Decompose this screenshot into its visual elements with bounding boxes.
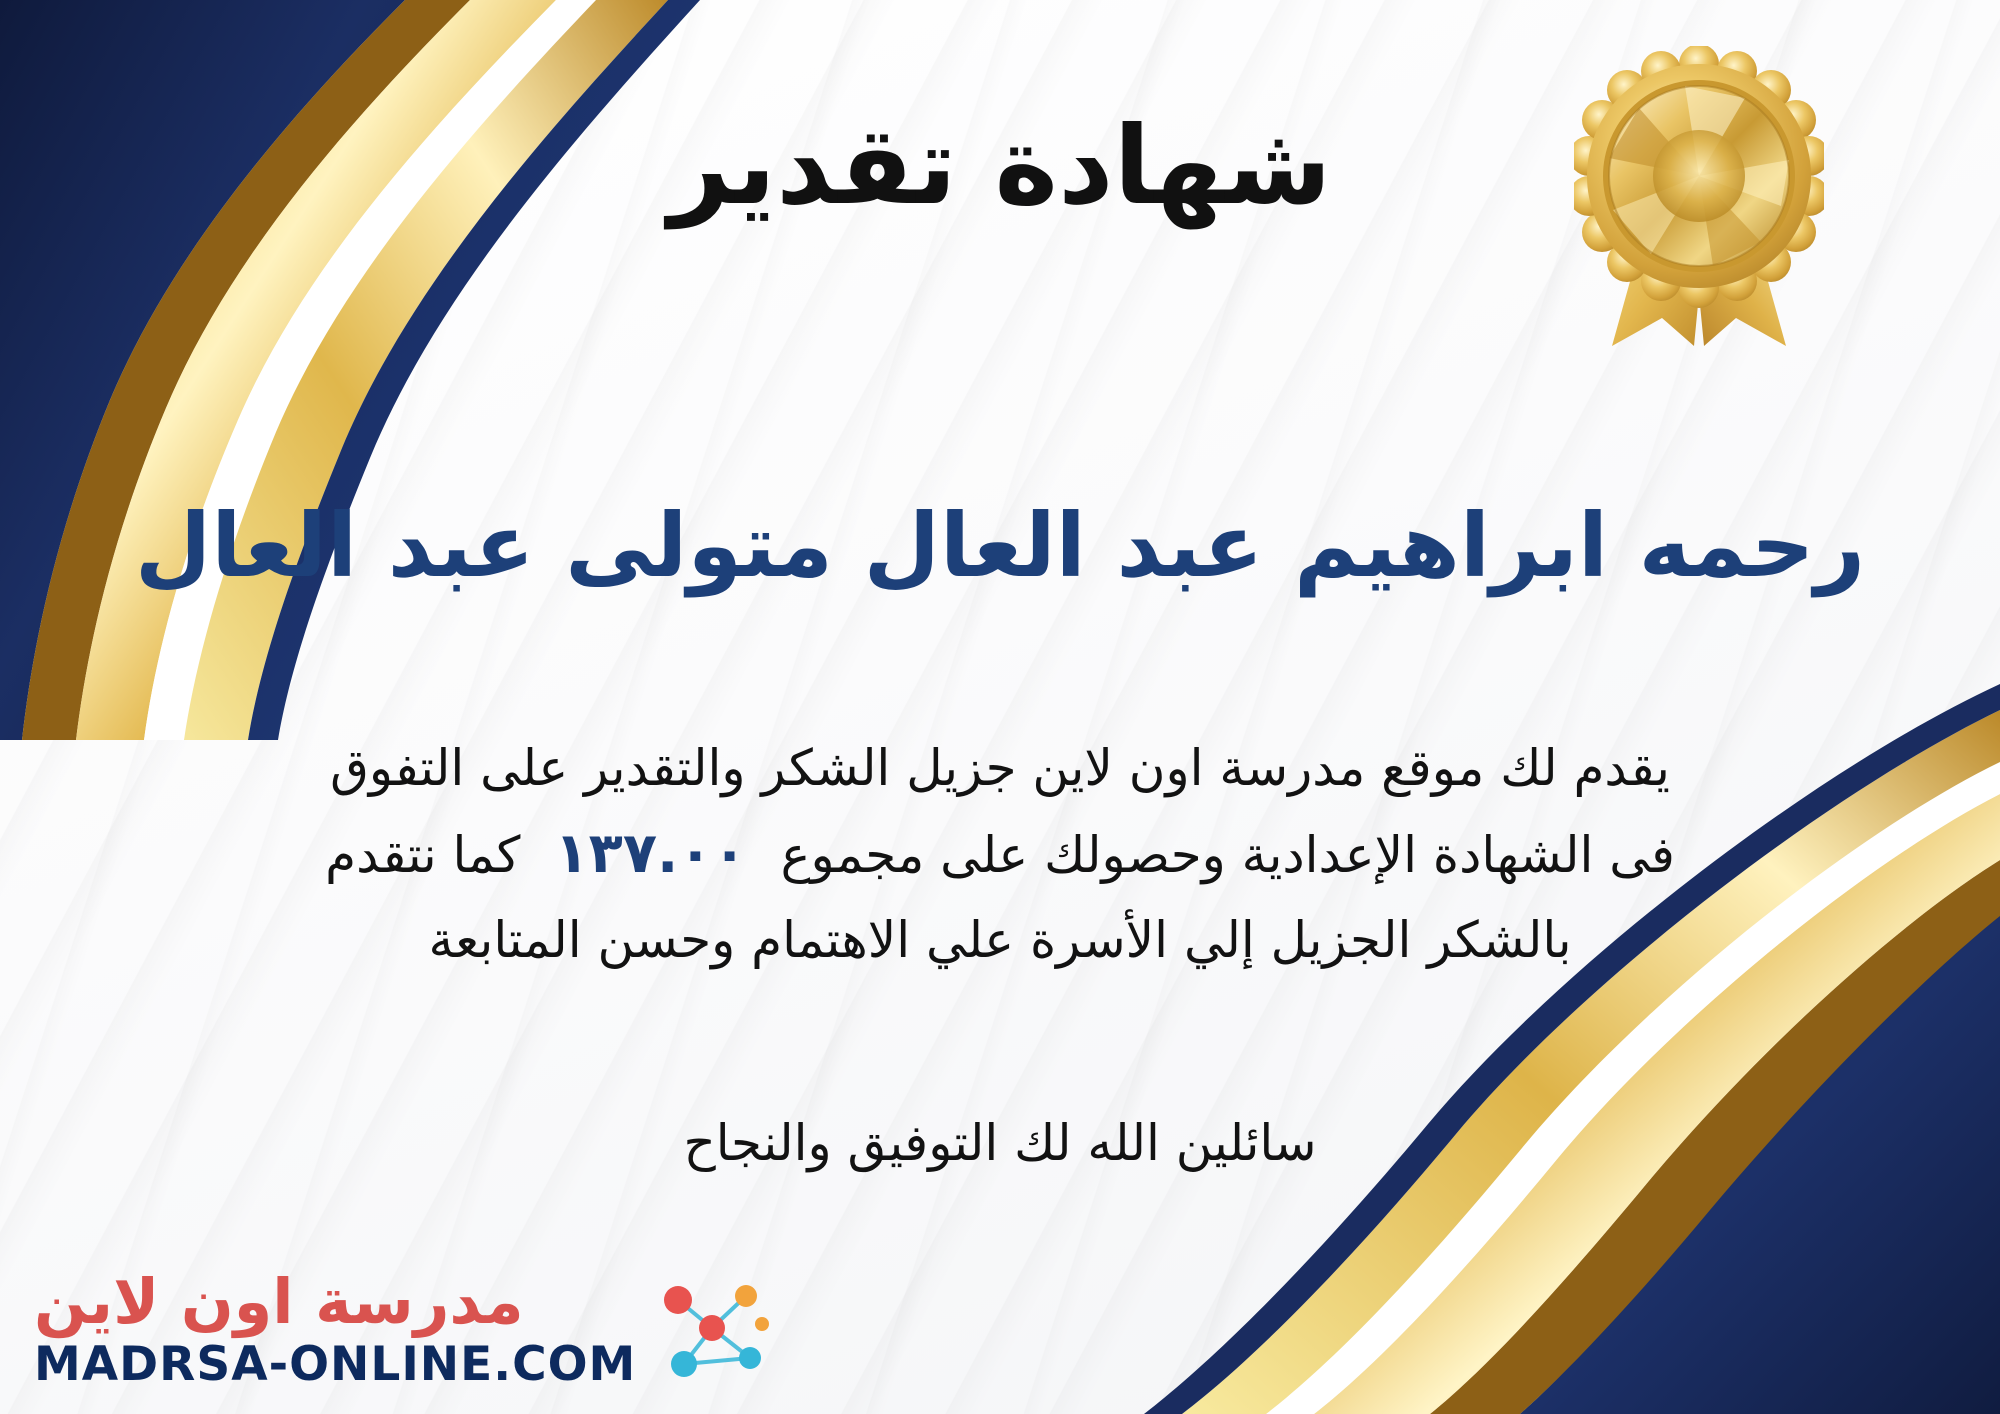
closing-wish-text: سائلين الله لك التوفيق والنجاح (0, 1108, 2000, 1178)
logo-domain-text: MADRSA-ONLINE.COM (34, 1341, 636, 1388)
body-paragraph: يقدم لك موقع مدرسة اون لاين جزيل الشكر و… (300, 728, 1700, 981)
recipient-name: رحمه ابراهيم عبد العال متولى عبد العال (60, 495, 1940, 596)
logo-arabic-name: مدرسة اون لاين (34, 1271, 524, 1333)
site-logo[interactable]: مدرسة اون لاين MADRSA-ONLINE.COM (34, 1271, 770, 1388)
certificate-canvas: شهادة تقدير رحمه ابراهيم عبد العال متولى… (0, 0, 2000, 1414)
page-title: شهادة تقدير (0, 110, 2000, 223)
network-nodes-icon (650, 1274, 770, 1386)
logo-text-block: مدرسة اون لاين MADRSA-ONLINE.COM (34, 1271, 636, 1388)
score-value: ١٣٧.٠٠ (520, 821, 780, 886)
